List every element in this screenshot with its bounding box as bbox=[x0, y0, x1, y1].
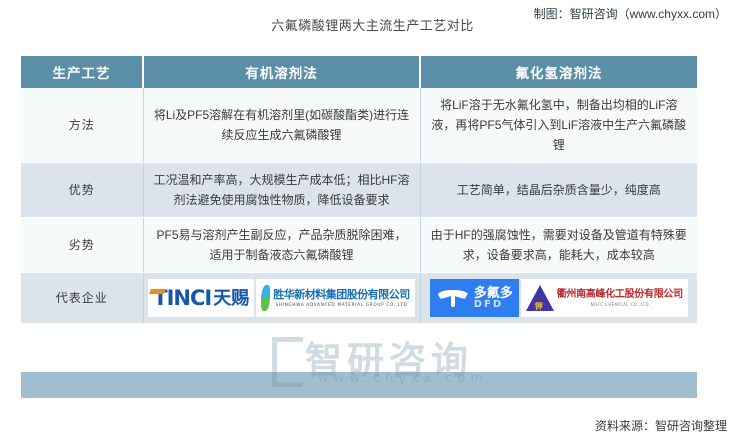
dfd-wordmark: 多氟多 DFD bbox=[474, 286, 513, 310]
table-header-row: 生产工艺 有机溶剂法 氟化氢溶剂法 bbox=[21, 56, 697, 88]
cell-method-hf: 将LiF溶于无水氟化氢中，制备出均相的LiF溶液，再将PF5气体引入到LiF溶液… bbox=[420, 88, 697, 163]
source-line: 资料来源：智研咨询整理 bbox=[595, 417, 727, 434]
row-label-companies: 代表企业 bbox=[21, 273, 143, 324]
credit-text: 制图：智研咨询（www.chyxx.com） bbox=[534, 5, 727, 22]
dfd-logo: 多氟多 DFD bbox=[430, 279, 519, 317]
nangaofeng-wordmark: 衢州南高峰化工股份有限公司 NGFC CHEMICAL CO.,LTD bbox=[557, 290, 683, 307]
row-label-method: 方法 bbox=[21, 88, 143, 163]
triangle-icon bbox=[526, 285, 554, 311]
nangaofeng-chinese-text: 衢州南高峰化工股份有限公司 bbox=[557, 290, 683, 300]
logo-group-organic: TINCI 天赐 胜华新材料集团股份有限公司 SHINGHWA ADVANCED… bbox=[148, 279, 416, 317]
table-row: 劣势 PF5易与溶剂产生副反应，产品杂质脱除困难，适用于制备液态六氟磷酸锂 由于… bbox=[21, 218, 697, 273]
tinci-wordmark: TINCI bbox=[153, 288, 211, 308]
cell-advantage-hf: 工艺简单，结晶后杂质含量少，纯度高 bbox=[420, 163, 697, 218]
tinci-latin-text: TINCI bbox=[153, 288, 211, 308]
shinghwa-wordmark: 胜华新材料集团股份有限公司 SHINGHWA ADVANCED MATERIAL… bbox=[273, 288, 410, 307]
table-row-companies: 代表企业 TINCI 天赐 胜华新材料集团股份有限公司 bbox=[21, 273, 697, 324]
column-header-hydrogen-fluoride: 氟化氢溶剂法 bbox=[420, 56, 697, 88]
leaf-icon bbox=[261, 285, 270, 311]
cell-disadvantage-organic: PF5易与溶剂产生副反应，产品杂质脱除困难，适用于制备液态六氟磷酸锂 bbox=[143, 218, 420, 273]
credit-bar bbox=[21, 372, 697, 398]
table-row: 方法 将Li及PF5溶解在有机溶剂里(如碳酸酯类)进行连续反应生成六氟磷酸锂 将… bbox=[21, 88, 697, 163]
cell-disadvantage-hf: 由于HF的强腐蚀性，需要对设备及管道有特殊要求，设备要求高，能耗大，成本较高 bbox=[420, 218, 697, 273]
row-label-disadvantage: 劣势 bbox=[21, 218, 143, 273]
shinghwa-chinese-text: 胜华新材料集团股份有限公司 bbox=[273, 289, 410, 301]
cell-advantage-organic: 工况温和产率高，大规模生产成本低；相比HF溶剂法避免使用腐蚀性物质，降低设备要求 bbox=[143, 163, 420, 218]
dfd-chinese-text: 多氟多 bbox=[474, 286, 513, 299]
logo-group-hf: 多氟多 DFD 衢州南高峰化工股份有限公司 NGFC CHEMICAL CO.,… bbox=[425, 279, 694, 317]
column-header-process: 生产工艺 bbox=[21, 56, 143, 88]
cell-method-organic: 将Li及PF5溶解在有机溶剂里(如碳酸酯类)进行连续反应生成六氟磷酸锂 bbox=[143, 88, 420, 163]
dfd-latin-text: DFD bbox=[474, 300, 513, 310]
table-row: 优势 工况温和产率高，大规模生产成本低；相比HF溶剂法避免使用腐蚀性物质，降低设… bbox=[21, 163, 697, 218]
column-header-organic-solvent: 有机溶剂法 bbox=[143, 56, 420, 88]
nangaofeng-english-text: NGFC CHEMICAL CO.,LTD bbox=[557, 303, 683, 307]
shinghwa-logo: 胜华新材料集团股份有限公司 SHINGHWA ADVANCED MATERIAL… bbox=[256, 279, 415, 317]
tinci-chinese-text: 天赐 bbox=[213, 288, 249, 308]
comparison-table-container: 生产工艺 有机溶剂法 氟化氢溶剂法 方法 将Li及PF5溶解在有机溶剂里(如碳酸… bbox=[21, 56, 697, 324]
cell-companies-hf: 多氟多 DFD 衢州南高峰化工股份有限公司 NGFC CHEMICAL CO.,… bbox=[420, 273, 697, 324]
shinghwa-english-text: SHINGHWA ADVANCED MATERIAL GROUP CO.,LTD bbox=[273, 303, 410, 307]
row-label-advantage: 优势 bbox=[21, 163, 143, 218]
bird-icon bbox=[436, 287, 470, 309]
comparison-table: 生产工艺 有机溶剂法 氟化氢溶剂法 方法 将Li及PF5溶解在有机溶剂里(如碳酸… bbox=[21, 56, 697, 324]
tinci-logo: TINCI 天赐 bbox=[148, 279, 254, 317]
nangaofeng-logo: 衢州南高峰化工股份有限公司 NGFC CHEMICAL CO.,LTD bbox=[521, 279, 688, 317]
cell-companies-organic: TINCI 天赐 胜华新材料集团股份有限公司 SHINGHWA ADVANCED… bbox=[143, 273, 420, 324]
